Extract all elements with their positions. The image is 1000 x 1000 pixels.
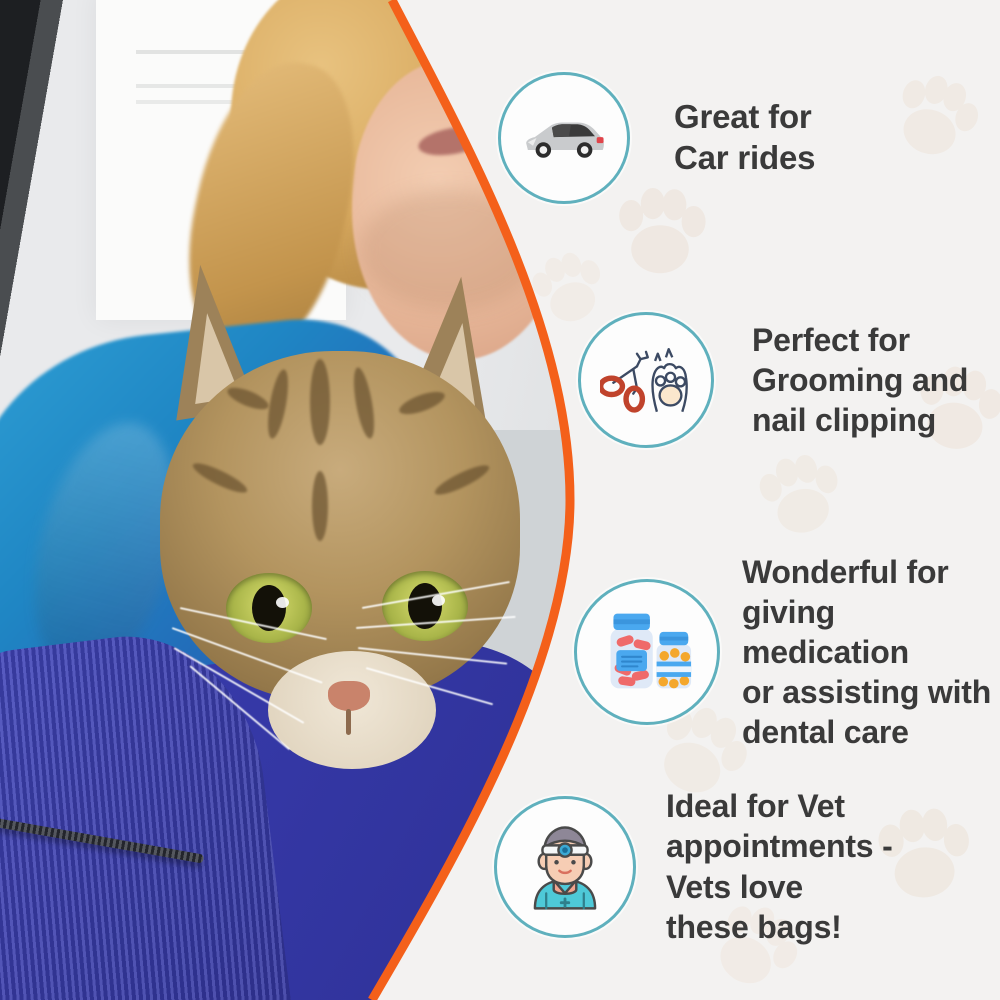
feature-medication[interactable]: Wonderful for giving medication or assis… — [574, 552, 1000, 752]
cat-nose — [328, 681, 370, 711]
cat-philtrum — [346, 709, 351, 735]
cat — [150, 255, 530, 725]
medicine-bottles-icon — [574, 579, 720, 725]
feature-label: Ideal for Vet appointments - Vets love t… — [666, 786, 893, 947]
feature-label: Wonderful for giving medication or assis… — [742, 552, 1000, 752]
feature-label: Perfect for Grooming and nail clipping — [752, 320, 968, 441]
veterinarian-icon — [494, 796, 636, 938]
feature-label: Great for Car rides — [674, 97, 815, 179]
car-icon — [498, 72, 630, 204]
nail-clipper-paw-icon — [578, 312, 714, 448]
cat-head — [160, 351, 520, 701]
feature-grooming[interactable]: Perfect for Grooming and nail clipping — [578, 312, 968, 448]
infographic-canvas: Great for Car rides Perfect for Grooming… — [0, 0, 1000, 1000]
feature-vet-visits[interactable]: Ideal for Vet appointments - Vets love t… — [494, 786, 893, 947]
feature-car-rides[interactable]: Great for Car rides — [498, 72, 815, 204]
cat-eye-right — [382, 571, 468, 641]
